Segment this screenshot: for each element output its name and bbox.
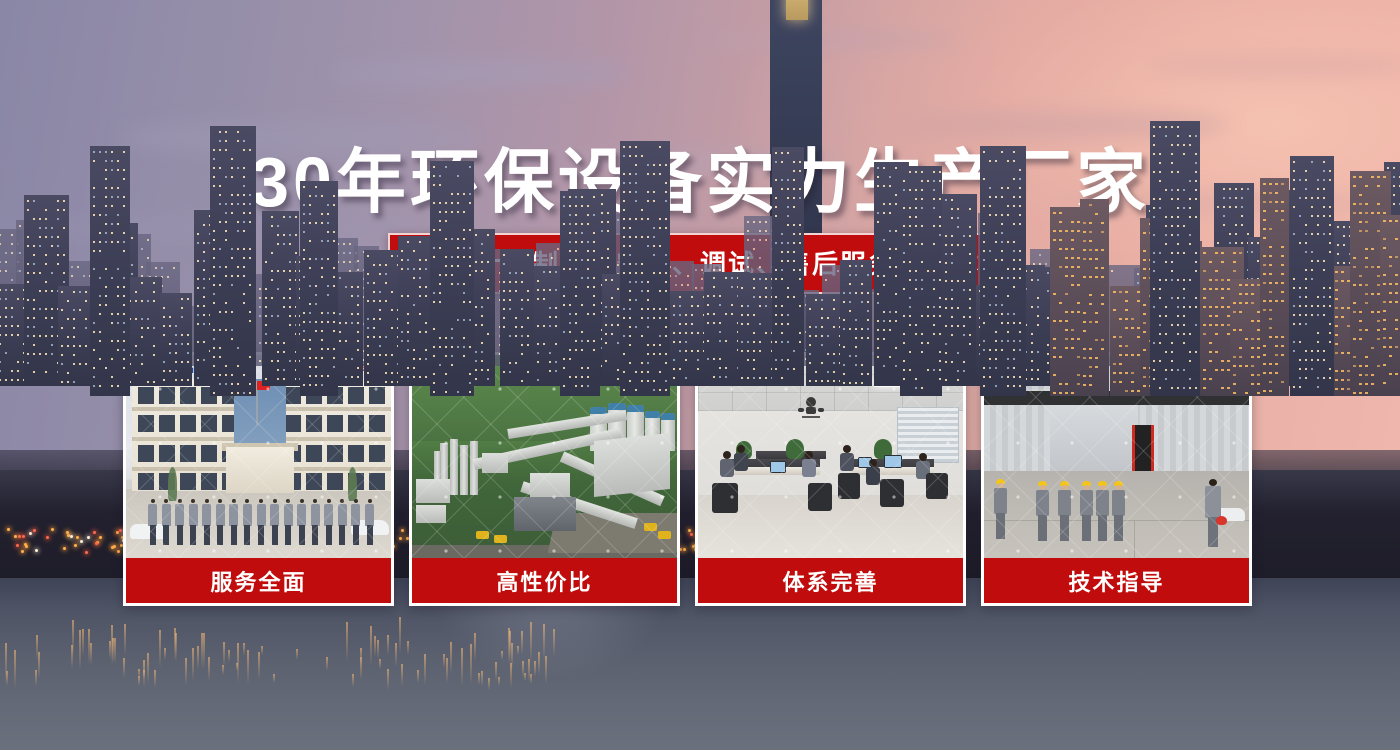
building-window: [85, 318, 87, 320]
building-window: [445, 274, 447, 276]
building-window: [611, 297, 613, 299]
building-window: [99, 277, 101, 279]
building-window: [11, 370, 13, 372]
building-window: [1377, 176, 1380, 178]
building-window: [315, 222, 317, 224]
building-window: [17, 325, 19, 327]
building-window: [93, 367, 95, 369]
building-window: [521, 272, 523, 274]
building-window: [895, 203, 897, 205]
building-window: [1371, 248, 1374, 250]
building-window: [1223, 197, 1225, 199]
building-window: [401, 376, 403, 378]
building-window: [327, 375, 329, 377]
building-window: [413, 277, 415, 279]
building-window: [321, 240, 323, 242]
building-window: [1335, 343, 1338, 345]
building-window: [1341, 280, 1344, 282]
building-window: [163, 334, 165, 336]
building-window: [607, 248, 609, 250]
building-window: [1263, 282, 1266, 284]
building-window: [1263, 228, 1266, 230]
building-window: [781, 332, 783, 334]
building-window: [303, 231, 305, 233]
building-window: [1089, 258, 1092, 260]
building-window: [707, 304, 709, 306]
building-window: [1089, 366, 1092, 368]
building-window: [1089, 231, 1092, 233]
building-window: [11, 252, 13, 254]
building-window: [821, 362, 823, 364]
building-window: [1119, 336, 1122, 338]
building-window: [527, 335, 529, 337]
building-window: [963, 280, 965, 282]
building-window: [463, 256, 465, 258]
building-window: [187, 361, 189, 363]
building-window: [303, 186, 305, 188]
building-window: [111, 277, 113, 279]
building-window: [1359, 392, 1362, 394]
building-window: [701, 278, 703, 280]
building-window: [243, 212, 245, 214]
building-window: [225, 311, 227, 313]
building-window: [225, 131, 227, 133]
building-window: [385, 354, 387, 356]
building-window: [713, 376, 715, 378]
building-window: [385, 282, 387, 284]
building-window: [373, 327, 375, 329]
building-window: [27, 281, 29, 283]
building-window: [243, 266, 245, 268]
building-window: [39, 335, 41, 337]
building-window: [327, 312, 329, 314]
building-window: [1263, 201, 1266, 203]
building-window: [131, 264, 133, 266]
building-window: [707, 313, 709, 315]
building-window: [197, 323, 199, 325]
building-window: [259, 342, 261, 344]
building-window: [605, 333, 607, 335]
building-window: [877, 293, 879, 295]
skyline-building: [160, 293, 192, 386]
building-window: [141, 336, 143, 338]
building-window: [1101, 231, 1104, 233]
building-window: [219, 131, 221, 133]
building-window: [315, 321, 317, 323]
building-window: [697, 350, 699, 352]
building-window: [849, 382, 851, 384]
building-window: [1089, 276, 1092, 278]
building-window: [849, 310, 851, 312]
building-window: [117, 223, 119, 225]
building-window: [457, 346, 459, 348]
building-window: [849, 265, 851, 267]
building-window: [1065, 257, 1068, 259]
building-window: [569, 349, 571, 351]
building-window: [457, 193, 459, 195]
building-window: [1383, 301, 1386, 303]
building-window: [753, 296, 755, 298]
building-window: [283, 216, 285, 218]
building-window: [741, 350, 743, 352]
building-window: [1209, 279, 1212, 281]
building-window: [111, 205, 113, 207]
building-window: [685, 314, 687, 316]
building-window: [787, 188, 789, 190]
building-window: [1143, 232, 1146, 234]
building-window: [1223, 224, 1225, 226]
building-window: [1335, 307, 1338, 309]
building-window: [1143, 268, 1146, 270]
building-window: [793, 188, 795, 190]
building-window: [753, 287, 755, 289]
building-window: [197, 359, 199, 361]
building-window: [45, 371, 47, 373]
building-window: [1251, 251, 1253, 253]
building-window: [289, 288, 291, 290]
building-window: [793, 170, 795, 172]
building-window: [843, 373, 845, 375]
building-window: [815, 335, 817, 337]
building-window: [349, 261, 351, 263]
building-window: [1393, 203, 1395, 205]
building-window: [51, 317, 53, 319]
building-window: [147, 239, 149, 241]
building-window: [1371, 374, 1374, 376]
building-window: [883, 365, 885, 367]
building-window: [181, 316, 183, 318]
building-window: [1065, 347, 1068, 349]
building-window: [741, 323, 743, 325]
building-window: [289, 297, 291, 299]
building-window: [563, 385, 565, 387]
building-window: [1143, 322, 1146, 324]
building-window: [295, 234, 297, 236]
building-window: [85, 291, 87, 293]
building-window: [349, 243, 351, 245]
building-window: [425, 295, 427, 297]
building-window: [1353, 257, 1356, 259]
building-window: [321, 267, 323, 269]
building-window: [111, 376, 113, 378]
building-window: [445, 391, 447, 393]
building-window: [123, 304, 125, 306]
building-window: [45, 209, 47, 211]
building-window: [321, 321, 323, 323]
building-window: [333, 312, 335, 314]
building-window: [963, 235, 965, 237]
building-window: [719, 304, 721, 306]
building-window: [1335, 325, 1338, 327]
building-window: [1095, 339, 1098, 341]
building-window: [123, 286, 125, 288]
building-window: [759, 305, 761, 307]
building-window: [527, 371, 529, 373]
building-window: [481, 297, 483, 299]
building-window: [99, 214, 101, 216]
building-window: [303, 357, 305, 359]
building-window: [379, 264, 381, 266]
building-window: [17, 379, 19, 381]
building-window: [787, 287, 789, 289]
building-window: [827, 317, 829, 319]
building-window: [213, 275, 215, 277]
building-window: [1275, 345, 1278, 347]
building-window: [617, 342, 619, 344]
building-window: [315, 384, 317, 386]
building-window: [719, 322, 721, 324]
building-window: [357, 304, 359, 306]
building-window: [1389, 373, 1392, 375]
building-window: [475, 378, 477, 380]
building-window: [1337, 226, 1339, 228]
building-window: [945, 343, 947, 345]
building-window: [1229, 242, 1231, 244]
building-window: [1275, 210, 1278, 212]
building-window: [1137, 282, 1139, 284]
building-window: [687, 275, 689, 277]
building-window: [1235, 188, 1237, 190]
promo-banner: 30年环保设备实力生产厂家 集设计、制造、安装、调试、售后服务于一体: [0, 0, 1400, 750]
building-window: [1383, 220, 1386, 222]
building-window: [601, 212, 603, 214]
building-window: [213, 329, 215, 331]
building-window: [303, 384, 305, 386]
building-window: [1275, 336, 1278, 338]
building-window: [1395, 256, 1398, 258]
building-window: [1031, 360, 1033, 362]
building-window: [1335, 334, 1338, 336]
building-window: [1365, 257, 1368, 259]
building-window: [1335, 379, 1338, 381]
building-window: [5, 334, 7, 336]
building-window: [601, 194, 603, 196]
building-window: [1143, 250, 1146, 252]
building-window: [1337, 244, 1339, 246]
building-window: [691, 296, 693, 298]
building-window: [203, 224, 205, 226]
building-window: [569, 322, 571, 324]
building-window: [799, 188, 801, 190]
building-window: [1251, 242, 1253, 244]
building-window: [1083, 258, 1086, 260]
building-window: [855, 346, 857, 348]
building-window: [1071, 239, 1074, 241]
building-window: [413, 376, 415, 378]
building-window: [231, 212, 233, 214]
building-window: [333, 285, 335, 287]
building-window: [611, 333, 613, 335]
building-window: [1365, 365, 1368, 367]
building-window: [673, 314, 675, 316]
building-window: [231, 167, 233, 169]
building-window: [1365, 248, 1368, 250]
building-window: [569, 223, 571, 225]
building-window: [463, 319, 465, 321]
building-window: [1215, 333, 1218, 335]
building-window: [1281, 255, 1284, 257]
building-window: [451, 337, 453, 339]
building-window: [237, 266, 239, 268]
building-window: [799, 197, 801, 199]
building-window: [213, 302, 215, 304]
building-window: [51, 245, 53, 247]
building-window: [1053, 356, 1056, 358]
building-window: [509, 362, 511, 364]
building-window: [73, 363, 75, 365]
building-window: [219, 284, 221, 286]
building-window: [1241, 215, 1243, 217]
building-window: [231, 311, 233, 313]
building-window: [33, 326, 35, 328]
building-window: [451, 328, 453, 330]
building-window: [713, 277, 715, 279]
building-window: [1089, 375, 1092, 377]
building-window: [1263, 219, 1266, 221]
building-window: [303, 276, 305, 278]
building-window: [951, 289, 953, 291]
building-window: [731, 277, 733, 279]
building-window: [1239, 302, 1242, 304]
building-window: [367, 255, 369, 257]
building-window: [1215, 369, 1218, 371]
building-window: [1053, 212, 1056, 214]
building-window: [27, 326, 29, 328]
building-window: [117, 313, 119, 315]
building-window: [957, 325, 959, 327]
building-window: [1365, 185, 1368, 187]
building-window: [147, 318, 149, 320]
building-window: [1359, 230, 1362, 232]
building-window: [343, 243, 345, 245]
building-window: [481, 315, 483, 317]
building-window: [747, 266, 749, 268]
building-window: [747, 350, 749, 352]
building-window: [753, 377, 755, 379]
building-window: [607, 212, 609, 214]
building-window: [57, 236, 59, 238]
building-window: [105, 187, 107, 189]
building-window: [607, 230, 609, 232]
building-window: [457, 211, 459, 213]
building-window: [63, 281, 65, 283]
building-window: [419, 358, 421, 360]
building-window: [271, 225, 273, 227]
building-window: [1071, 275, 1074, 277]
building-window: [225, 230, 227, 232]
building-window: [259, 315, 261, 317]
building-window: [1383, 328, 1386, 330]
building-window: [1281, 381, 1284, 383]
building-window: [413, 268, 415, 270]
building-window: [173, 267, 175, 269]
building-window: [855, 328, 857, 330]
building-window: [719, 331, 721, 333]
building-window: [243, 392, 245, 394]
building-window: [237, 221, 239, 223]
building-window: [855, 355, 857, 357]
building-window: [105, 169, 107, 171]
building-window: [451, 202, 453, 204]
building-window: [481, 369, 483, 371]
building-window: [99, 385, 101, 387]
building-window: [99, 151, 101, 153]
building-window: [277, 351, 279, 353]
building-window: [685, 359, 687, 361]
building-window: [419, 268, 421, 270]
building-window: [213, 284, 215, 286]
building-window: [747, 230, 749, 232]
building-window: [309, 303, 311, 305]
building-window: [1065, 266, 1068, 268]
building-window: [1251, 383, 1254, 385]
building-window: [469, 166, 471, 168]
building-window: [793, 206, 795, 208]
building-window: [675, 284, 677, 286]
building-window: [1251, 365, 1254, 367]
building-window: [187, 352, 189, 354]
building-window: [407, 268, 409, 270]
building-window: [463, 301, 465, 303]
building-window: [889, 230, 891, 232]
building-window: [963, 334, 965, 336]
building-window: [843, 292, 845, 294]
building-window: [1359, 374, 1362, 376]
building-window: [1393, 185, 1395, 187]
building-window: [679, 350, 681, 352]
building-window: [563, 196, 565, 198]
building-window: [63, 200, 65, 202]
building-window: [889, 329, 891, 331]
building-window: [439, 364, 441, 366]
building-window: [425, 322, 427, 324]
building-window: [117, 349, 119, 351]
building-window: [895, 347, 897, 349]
building-window: [883, 338, 885, 340]
building-window: [945, 307, 947, 309]
building-window: [451, 355, 453, 357]
building-window: [617, 219, 619, 221]
building-window: [385, 336, 387, 338]
building-window: [617, 315, 619, 317]
building-window: [509, 299, 511, 301]
building-window: [219, 221, 221, 223]
building-window: [1071, 230, 1074, 232]
building-window: [1089, 240, 1092, 242]
building-window: [1239, 329, 1242, 331]
building-window: [833, 362, 835, 364]
building-window: [685, 323, 687, 325]
building-window: [303, 258, 305, 260]
building-window: [787, 323, 789, 325]
building-window: [685, 332, 687, 334]
building-window: [1281, 183, 1284, 185]
building-window: [231, 284, 233, 286]
building-window: [1341, 388, 1344, 390]
skyline-building: [300, 181, 338, 396]
building-window: [51, 308, 53, 310]
building-window: [213, 266, 215, 268]
building-window: [1335, 298, 1338, 300]
building-window: [413, 304, 415, 306]
building-window: [213, 239, 215, 241]
building-window: [111, 151, 113, 153]
building-window: [1281, 282, 1284, 284]
building-window: [27, 263, 29, 265]
building-window: [123, 169, 125, 171]
building-window: [487, 279, 489, 281]
building-window: [809, 335, 811, 337]
